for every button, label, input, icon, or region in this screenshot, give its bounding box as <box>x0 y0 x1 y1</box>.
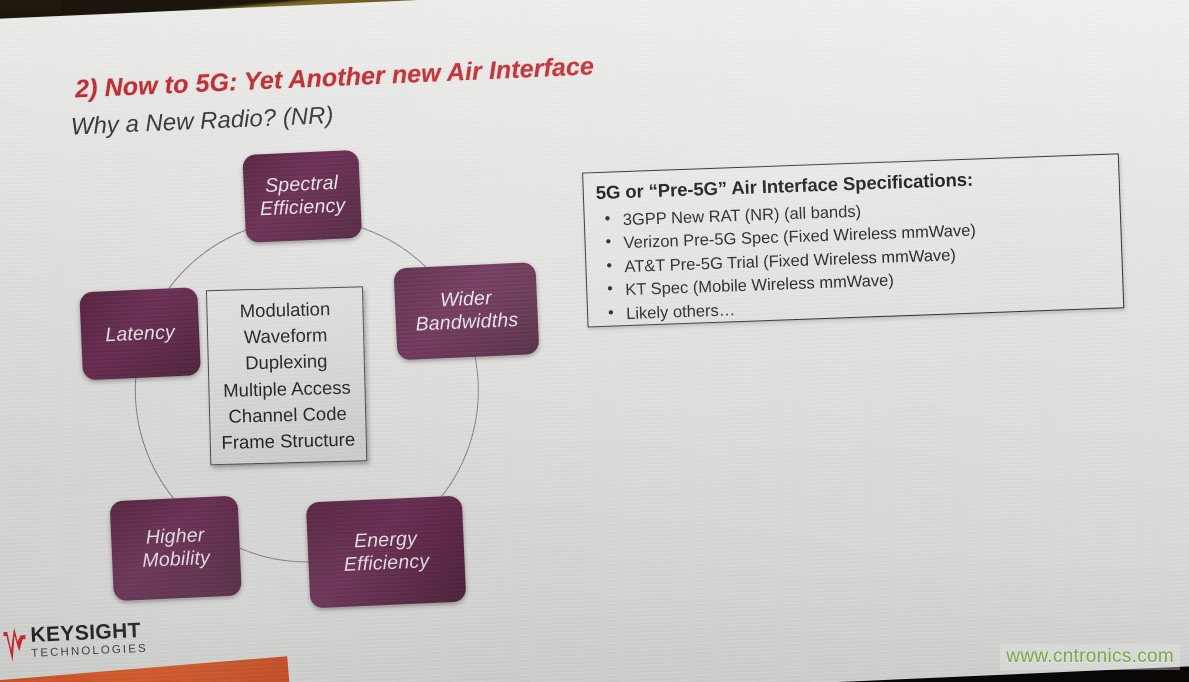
center-item-multiple-access: Multiple Access <box>223 374 351 403</box>
bullet-icon: • <box>608 302 614 325</box>
specifications-panel: 5G or “Pre-5G” Air Interface Specificati… <box>582 153 1124 327</box>
specifications-list: • 3GPP New RAT (NR) (all bands) • Verizo… <box>596 192 1111 327</box>
slide-subtitle: Why a New Radio? (NR) <box>70 102 334 142</box>
slide-title: 2) Now to 5G: Yet Another new Air Interf… <box>75 52 595 104</box>
node-higher-mobility-line2: Mobility <box>142 547 211 573</box>
bullet-icon: • <box>604 209 610 232</box>
projection-screen: 2) Now to 5G: Yet Another new Air Interf… <box>0 0 1189 682</box>
node-spectral-efficiency: Spectral Efficiency <box>242 150 362 243</box>
center-item-duplexing: Duplexing <box>245 348 328 376</box>
center-parameters-box: Modulation Waveform Duplexing Multiple A… <box>206 286 367 465</box>
center-item-frame-structure: Frame Structure <box>221 427 355 457</box>
keysight-logo-text: KEYSIGHT TECHNOLOGIES <box>30 620 148 661</box>
keysight-name: KEYSIGHT <box>30 620 147 646</box>
bullet-icon: • <box>606 255 612 278</box>
keysight-wave-icon <box>3 627 26 662</box>
bullet-icon: • <box>607 279 613 302</box>
center-item-channel-code: Channel Code <box>228 401 347 430</box>
node-wider-bandwidths: Wider Bandwidths <box>393 262 539 360</box>
center-item-waveform: Waveform <box>244 322 328 350</box>
presentation-photo: 2) Now to 5G: Yet Another new Air Interf… <box>0 0 1189 682</box>
node-higher-mobility: Higher Mobility <box>110 496 242 602</box>
center-item-modulation: Modulation <box>239 296 330 325</box>
node-latency: Latency <box>79 287 201 380</box>
slide-content: 2) Now to 5G: Yet Another new Air Interf… <box>0 0 1189 682</box>
site-watermark: www.cntronics.com <box>1000 644 1180 670</box>
node-latency-line1: Latency <box>105 321 176 347</box>
node-spectral-efficiency-line2: Efficiency <box>259 194 345 221</box>
node-energy-efficiency-line2: Efficiency <box>343 550 429 577</box>
node-energy-efficiency: Energy Efficiency <box>306 496 467 609</box>
node-wider-bandwidths-line2: Bandwidths <box>415 309 519 337</box>
bullet-icon: • <box>605 232 611 255</box>
node-higher-mobility-line1: Higher <box>141 524 210 550</box>
keysight-tagline: TECHNOLOGIES <box>31 644 148 661</box>
spec-item-text: Likely others… <box>626 301 736 323</box>
keysight-logo: KEYSIGHT TECHNOLOGIES <box>3 620 148 662</box>
